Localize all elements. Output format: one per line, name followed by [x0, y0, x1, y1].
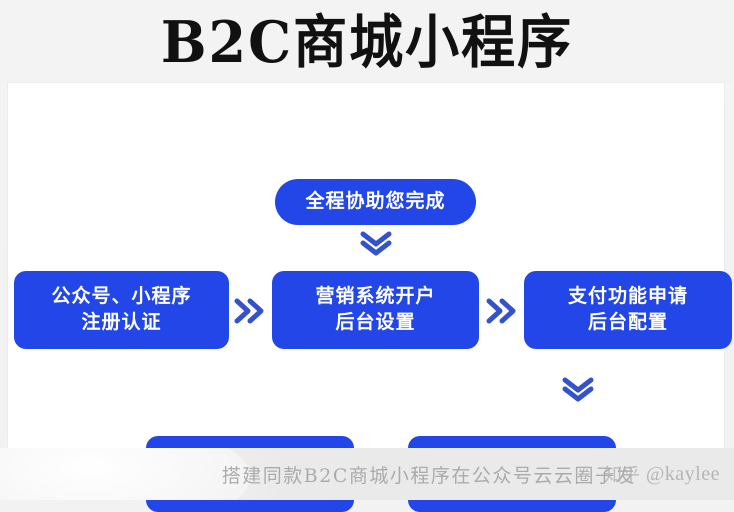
chevron-down-icon-step3-step4	[558, 375, 598, 405]
flow-node-intro[interactable]: 全程协助您完成	[275, 179, 476, 225]
flow-node-step-3[interactable]: 支付功能申请 后台配置	[524, 271, 732, 349]
chevron-down-icon-intro	[356, 229, 396, 259]
watermark-text: 搭建同款B2C商城小程序在公众号云云圈子发	[222, 461, 636, 488]
flow-node-step-2-line1: 营销系统开户	[315, 284, 435, 310]
infographic-canvas: B2C商城小程序 全程协助您完成 公众号、小程序 注册认证 营销系统开户	[0, 0, 734, 500]
chevron-right-icon-step1-step2	[229, 295, 271, 327]
watermark-handle: @kaylee	[646, 463, 720, 486]
zhihu-logo: 知乎	[604, 461, 640, 487]
flow-node-step-3-line1: 支付功能申请	[568, 284, 688, 310]
flow-node-step-3-line2: 后台配置	[588, 310, 668, 336]
flow-node-step-2-line2: 后台设置	[335, 310, 415, 336]
chevron-right-icon-step2-step3	[481, 295, 523, 327]
watermark-line: 搭建同款B2C商城小程序在公众号云云圈子发 知乎 @kaylee	[0, 448, 734, 500]
flow-card: 全程协助您完成 公众号、小程序 注册认证 营销系统开户 后台设置	[8, 83, 724, 448]
page-title: B2C商城小程序	[161, 13, 573, 70]
flow-node-step-2[interactable]: 营销系统开户 后台设置	[272, 271, 479, 349]
flow-node-step-1-line1: 公众号、小程序	[51, 284, 191, 310]
footer-watermark-strip: 搭建同款B2C商城小程序在公众号云云圈子发 知乎 @kaylee	[0, 448, 734, 500]
flow-node-step-1[interactable]: 公众号、小程序 注册认证	[14, 271, 229, 349]
flow-node-intro-label: 全程协助您完成	[305, 189, 445, 215]
flow-node-step-1-line2: 注册认证	[81, 310, 161, 336]
title-band: B2C商城小程序	[0, 0, 734, 83]
